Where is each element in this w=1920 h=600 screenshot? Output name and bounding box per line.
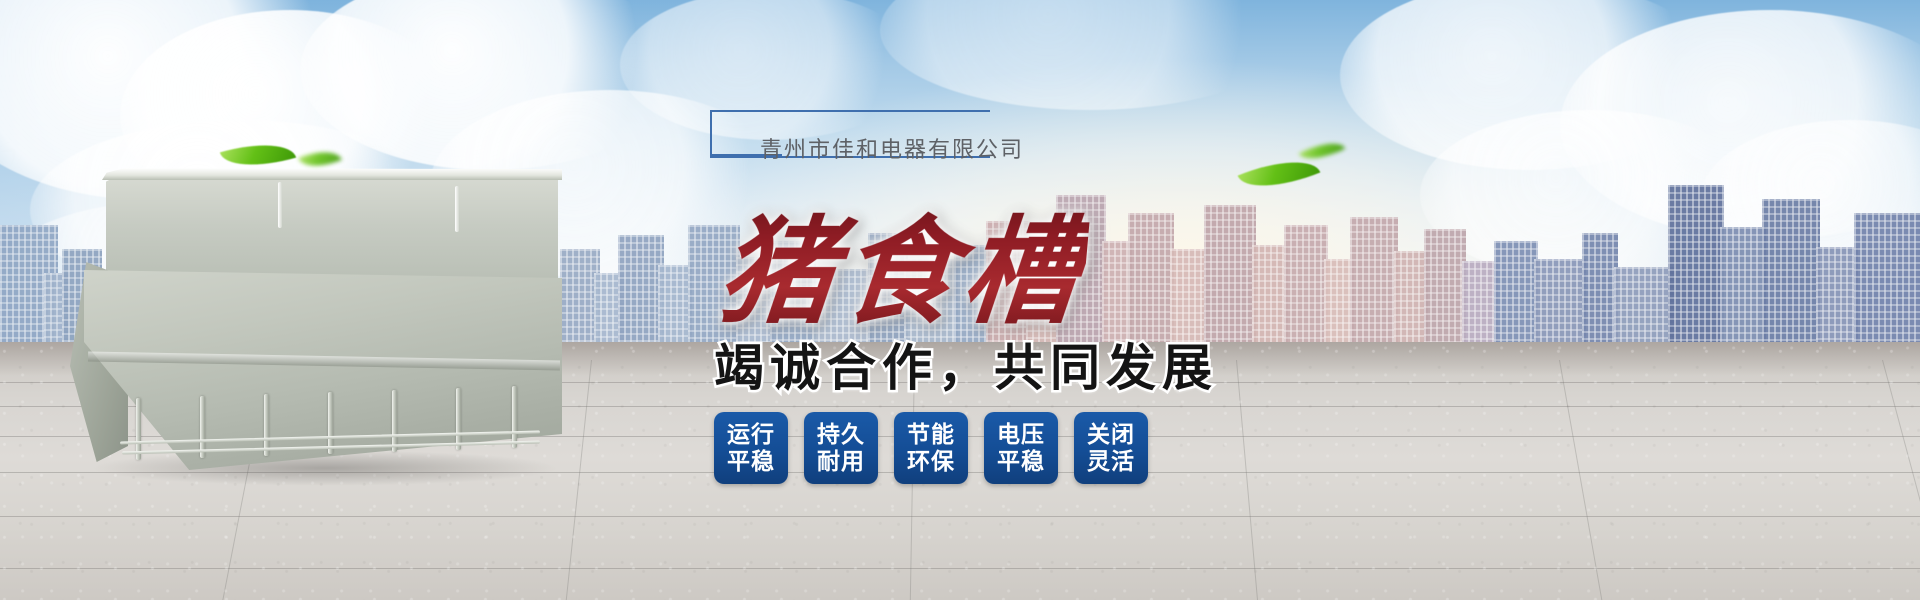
promotional-banner: 青州市佳和电器有限公司 猪食槽 竭诚合作，共同发展 运行 平稳 持久 耐用 节能… [0, 0, 1920, 600]
trough-divider-bar [456, 388, 461, 450]
trough-back-post [278, 182, 282, 228]
feature-badge-line1: 运行 [727, 421, 775, 448]
product-image-feeding-trough [60, 150, 580, 480]
feature-badge-line2: 耐用 [817, 448, 865, 475]
feature-badge-line1: 电压 [997, 421, 1045, 448]
trough-back-post [455, 186, 459, 232]
trough-rim [102, 168, 562, 180]
trough-divider-bar [328, 392, 333, 454]
feature-badge[interactable]: 持久 耐用 [804, 412, 878, 484]
feature-badge-line1: 节能 [907, 421, 955, 448]
feature-badge-line2: 灵活 [1087, 448, 1135, 475]
banner-copy: 青州市佳和电器有限公司 猪食槽 竭诚合作，共同发展 运行 平稳 持久 耐用 节能… [700, 100, 1320, 560]
trough-divider-bar [512, 386, 517, 448]
feature-badge[interactable]: 关闭 灵活 [1074, 412, 1148, 484]
feature-badge-line2: 环保 [907, 448, 955, 475]
feature-badge[interactable]: 运行 平稳 [714, 412, 788, 484]
feature-badge-line2: 平稳 [727, 448, 775, 475]
main-title: 猪食槽 [713, 178, 1094, 346]
feature-badge-list: 运行 平稳 持久 耐用 节能 环保 电压 平稳 关闭 灵活 [714, 412, 1148, 484]
trough-divider-bar [392, 390, 397, 452]
feature-badge-line1: 关闭 [1087, 421, 1135, 448]
feature-badge-line2: 平稳 [997, 448, 1045, 475]
feature-badge[interactable]: 节能 环保 [894, 412, 968, 484]
feature-badge-line1: 持久 [817, 421, 865, 448]
subtitle-slogan: 竭诚合作，共同发展 [714, 328, 1218, 400]
feature-badge[interactable]: 电压 平稳 [984, 412, 1058, 484]
company-name: 青州市佳和电器有限公司 [760, 132, 1024, 164]
